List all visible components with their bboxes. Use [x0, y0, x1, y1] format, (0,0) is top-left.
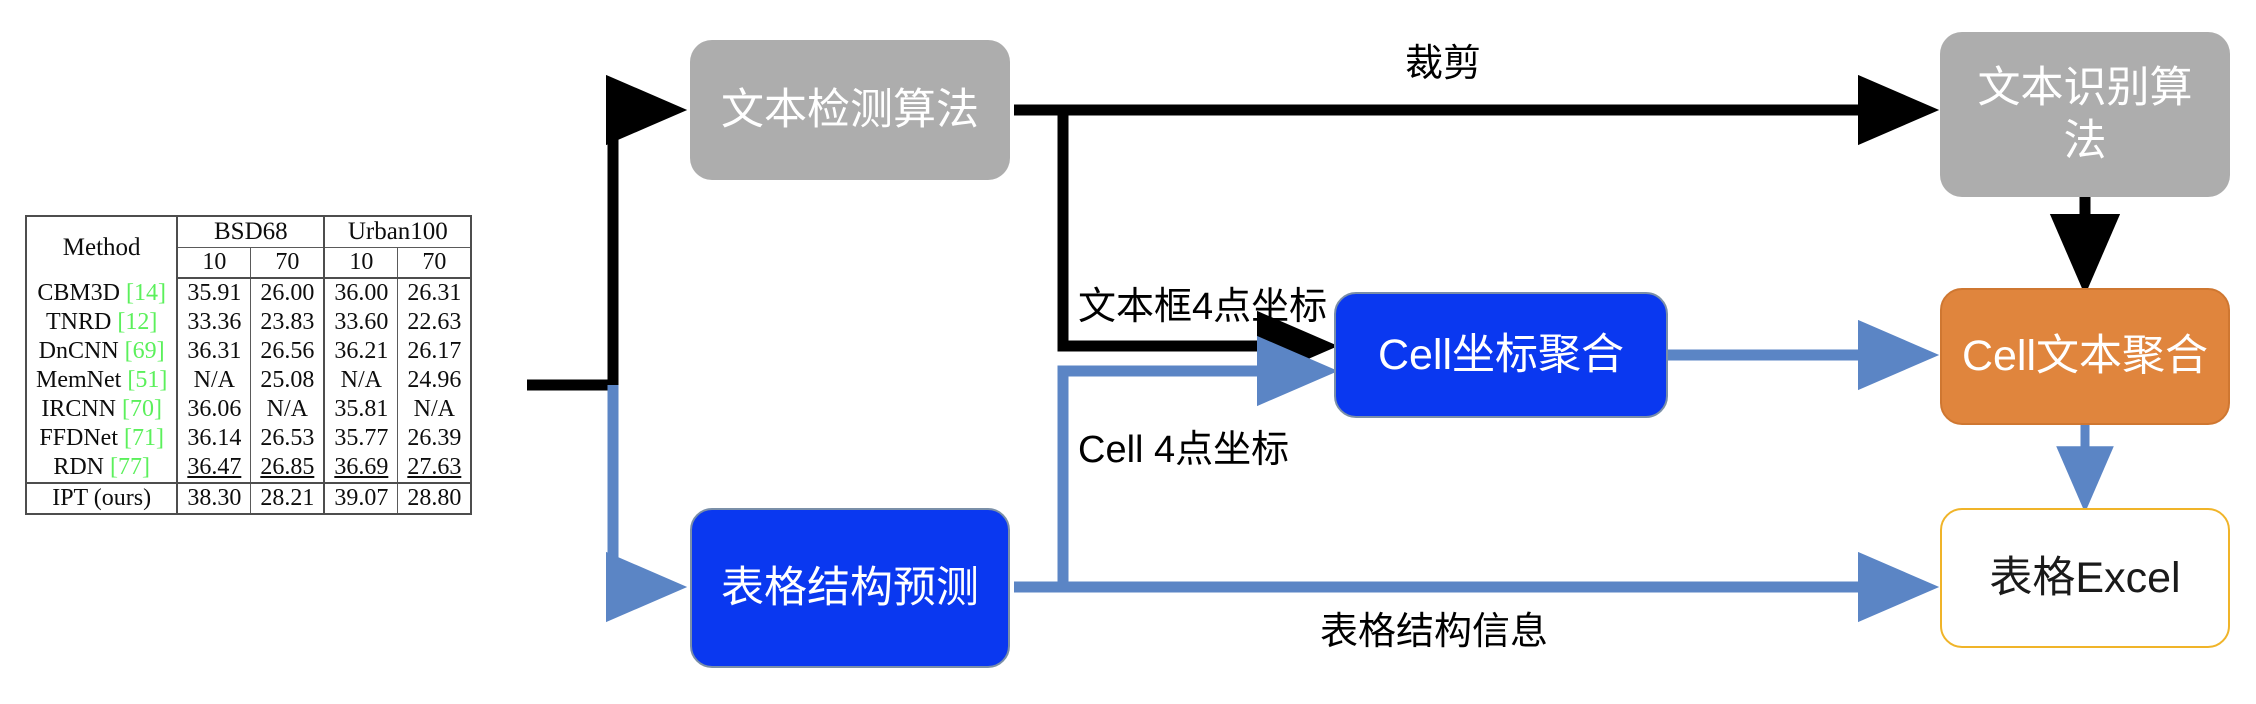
cell-value: 36.00	[324, 278, 398, 308]
cell-value: 22.63	[398, 308, 472, 337]
results-table-figure: Method BSD68 Urban100 10 70 10 70 CBM3D …	[25, 215, 472, 515]
citation: [77]	[110, 454, 150, 480]
node-table-excel[interactable]: 表格Excel	[1940, 508, 2230, 648]
row-method: IRCNN [70]	[26, 395, 177, 424]
cell-value: N/A	[251, 395, 325, 424]
row-method: RDN [77]	[26, 453, 177, 483]
edge-label-cell-4-point: Cell 4点坐标	[1078, 418, 1289, 473]
header-urban100-70: 70	[398, 248, 472, 279]
node-text-detection-label: 文本检测算法	[721, 84, 979, 136]
row-method: CBM3D [14]	[26, 278, 177, 308]
citation: [69]	[125, 338, 165, 364]
edge-label-text-box-4-point: 文本框4点坐标	[1078, 275, 1327, 330]
cell-value: 36.47	[177, 453, 251, 483]
header-group-bsd68: BSD68	[177, 216, 324, 248]
cell-value: 27.63	[398, 453, 472, 483]
header-bsd68-70: 70	[251, 248, 325, 279]
edge-label-table-structure: 表格结构信息	[1320, 600, 1548, 655]
header-urban100-10: 10	[324, 248, 398, 279]
node-text-recognition-label: 文本识别算法	[1958, 62, 2212, 167]
cell-value: 36.21	[324, 337, 398, 366]
citation: [12]	[117, 309, 157, 335]
header-bsd68-10: 10	[177, 248, 251, 279]
cell-value: 26.56	[251, 337, 325, 366]
cell-value: 26.31	[398, 278, 472, 308]
table-row-final: IPT (ours) 38.30 28.21 39.07 28.80	[26, 483, 471, 514]
cell-value: N/A	[177, 366, 251, 395]
cell-value: N/A	[398, 395, 472, 424]
edge-table-to-branches	[527, 110, 674, 587]
node-cell-text-aggregation-label: Cell文本聚合	[1962, 330, 2208, 382]
row-method: TNRD [12]	[26, 308, 177, 337]
cell-value: 24.96	[398, 366, 472, 395]
row-method: FFDNet [71]	[26, 424, 177, 453]
citation: [14]	[126, 280, 166, 306]
edge-label-text-box-4-point-text: 文本框4点坐标	[1078, 286, 1327, 328]
cell-value: 36.69	[324, 453, 398, 483]
node-text-recognition[interactable]: 文本识别算法	[1940, 32, 2230, 197]
diagram-canvas: 文本检测算法 文本识别算法 Cell坐标聚合 Cell文本聚合 表格结构预测 表…	[0, 0, 2256, 704]
row-method: MemNet [51]	[26, 366, 177, 395]
table-group-header-row: Method BSD68 Urban100	[26, 216, 471, 248]
results-table-body: Method BSD68 Urban100 10 70 10 70 CBM3D …	[26, 216, 471, 514]
cell-value: 23.83	[251, 308, 325, 337]
citation: [70]	[122, 396, 162, 422]
table-row: FFDNet [71] 36.14 26.53 35.77 26.39	[26, 424, 471, 453]
cell-value: 39.07	[324, 483, 398, 514]
cell-value: 28.21	[251, 483, 325, 514]
node-cell-text-aggregation[interactable]: Cell文本聚合	[1940, 288, 2230, 425]
cell-value: 35.77	[324, 424, 398, 453]
cell-value: 36.31	[177, 337, 251, 366]
node-text-detection[interactable]: 文本检测算法	[690, 40, 1010, 180]
table-row: MemNet [51] N/A 25.08 N/A 24.96	[26, 366, 471, 395]
header-group-urban100: Urban100	[324, 216, 471, 248]
row-method: IPT (ours)	[26, 483, 177, 514]
cell-value: 25.08	[251, 366, 325, 395]
cell-value: N/A	[324, 366, 398, 395]
cell-value: 33.60	[324, 308, 398, 337]
table-row: TNRD [12] 33.36 23.83 33.60 22.63	[26, 308, 471, 337]
citation: [71]	[124, 425, 164, 451]
edge-struct-to-cell-coord	[1063, 371, 1325, 587]
node-cell-coord-aggregation-label: Cell坐标聚合	[1378, 329, 1624, 381]
cell-value: 28.80	[398, 483, 472, 514]
citation: [51]	[127, 367, 167, 393]
node-table-structure-prediction-label: 表格结构预测	[721, 562, 979, 614]
edge-label-crop-text: 裁剪	[1405, 43, 1481, 85]
cell-value: 33.36	[177, 308, 251, 337]
cell-value: 26.00	[251, 278, 325, 308]
cell-value: 38.30	[177, 483, 251, 514]
cell-value: 26.39	[398, 424, 472, 453]
results-table: Method BSD68 Urban100 10 70 10 70 CBM3D …	[25, 215, 472, 515]
cell-value: 35.81	[324, 395, 398, 424]
table-row: IRCNN [70] 36.06 N/A 35.81 N/A	[26, 395, 471, 424]
cell-value: 36.14	[177, 424, 251, 453]
node-cell-coord-aggregation[interactable]: Cell坐标聚合	[1334, 292, 1668, 418]
node-table-structure-prediction[interactable]: 表格结构预测	[690, 508, 1010, 668]
cell-value: 36.06	[177, 395, 251, 424]
cell-value: 35.91	[177, 278, 251, 308]
edge-label-table-structure-text: 表格结构信息	[1320, 611, 1548, 653]
cell-value: 26.53	[251, 424, 325, 453]
table-row: CBM3D [14] 35.91 26.00 36.00 26.31	[26, 278, 471, 308]
table-row: DnCNN [69] 36.31 26.56 36.21 26.17	[26, 337, 471, 366]
cell-value: 26.85	[251, 453, 325, 483]
cell-value: 26.17	[398, 337, 472, 366]
header-method: Method	[26, 216, 177, 278]
edge-label-crop: 裁剪	[1405, 32, 1481, 87]
table-row: RDN [77] 36.47 26.85 36.69 27.63	[26, 453, 471, 483]
row-method: DnCNN [69]	[26, 337, 177, 366]
edge-label-cell-4-point-text: Cell 4点坐标	[1078, 429, 1289, 471]
node-table-excel-label: 表格Excel	[1989, 552, 2180, 604]
